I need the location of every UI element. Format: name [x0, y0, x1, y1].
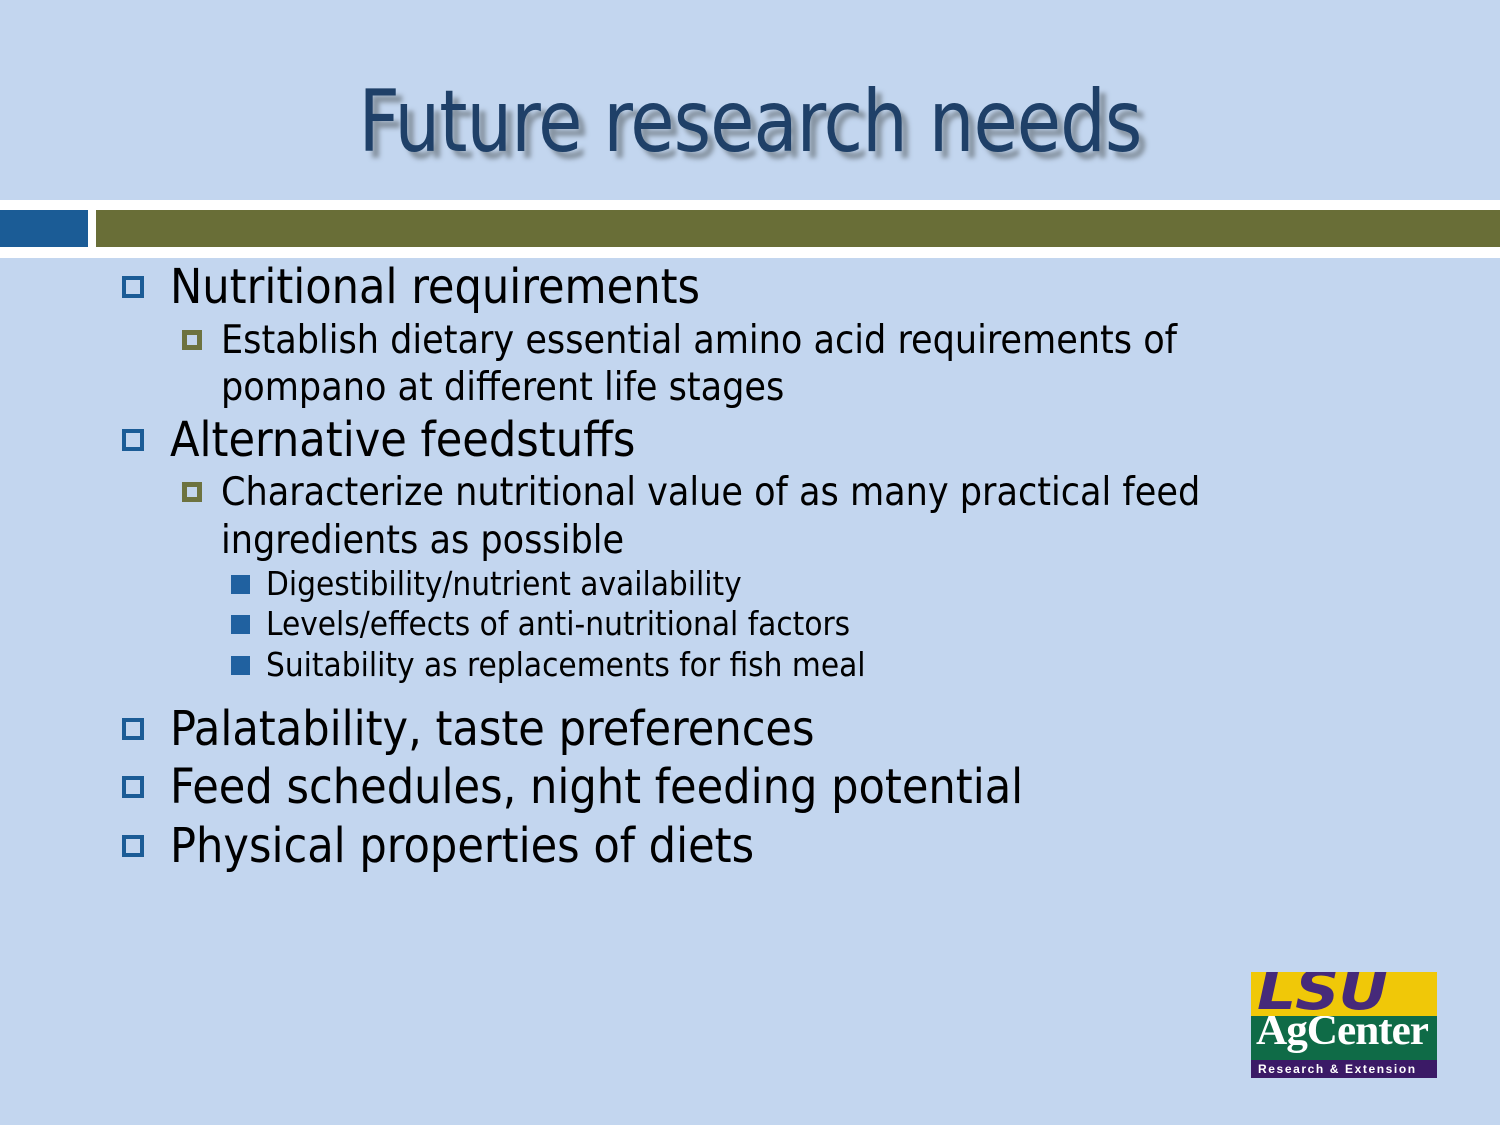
- list-item: Digestibility/nutrient availability: [0, 564, 1500, 605]
- header-divider-band: [0, 200, 1500, 258]
- list-item: Nutritional requirements: [0, 258, 1500, 317]
- filled-blue-square-bullet-icon: [231, 615, 250, 634]
- list-item: Levels/effects of anti-nutritional facto…: [0, 604, 1500, 645]
- list-item-label: Nutritional requirements: [170, 258, 1420, 317]
- list-item-label: Characterize nutritional value of as man…: [221, 469, 1321, 563]
- lsu-agcenter-logo: LSU AgCenter Research & Extension: [1251, 972, 1437, 1078]
- hollow-blue-square-bullet-icon: [122, 718, 144, 740]
- list-item-label: Palatability, taste preferences: [170, 700, 1420, 759]
- presentation-slide: Future research needs Nutritional requir…: [0, 0, 1500, 1125]
- filled-blue-square-bullet-icon: [231, 656, 250, 675]
- hollow-blue-square-bullet-icon: [122, 429, 144, 451]
- hollow-blue-square-bullet-icon: [122, 276, 144, 298]
- hollow-olive-square-bullet-icon: [182, 330, 202, 350]
- filled-blue-square-bullet-icon: [231, 575, 250, 594]
- logo-agcenter-text: AgCenter: [1256, 1016, 1428, 1052]
- list-item-label: Physical properties of diets: [170, 817, 1420, 876]
- hollow-blue-square-bullet-icon: [122, 776, 144, 798]
- list-item: Feed schedules, night feeding potential: [0, 758, 1500, 817]
- logo-lsu-band: LSU: [1251, 972, 1437, 1016]
- bullet-list: Nutritional requirements Establish dieta…: [0, 258, 1500, 958]
- logo-agcenter-band: AgCenter: [1251, 1016, 1437, 1060]
- list-item-label: Feed schedules, night feeding potential: [170, 758, 1420, 817]
- list-item-label: Digestibility/nutrient availability: [266, 564, 1266, 605]
- logo-lsu-text: LSU: [1257, 972, 1387, 1016]
- list-item: Physical properties of diets: [0, 817, 1500, 876]
- list-item: Suitability as replacements for fish mea…: [0, 645, 1500, 686]
- divider-accent-block: [0, 210, 88, 247]
- list-item-label: Levels/effects of anti-nutritional facto…: [266, 604, 1266, 645]
- list-item: Palatability, taste preferences: [0, 700, 1500, 759]
- list-item-label: Suitability as replacements for fish mea…: [266, 645, 1266, 686]
- hollow-blue-square-bullet-icon: [122, 835, 144, 857]
- slide-title-area: Future research needs: [0, 60, 1500, 185]
- page-title: Future research needs: [358, 77, 1141, 167]
- list-item: Alternative feedstuffs: [0, 411, 1500, 470]
- hollow-olive-square-bullet-icon: [182, 482, 202, 502]
- logo-tagline-band: Research & Extension: [1251, 1060, 1437, 1078]
- divider-rule-bar: [96, 210, 1500, 247]
- list-item-label: Establish dietary essential amino acid r…: [221, 317, 1321, 411]
- list-item-label: Alternative feedstuffs: [170, 411, 1420, 470]
- list-item: Characterize nutritional value of as man…: [0, 469, 1500, 563]
- logo-tagline-text: Research & Extension: [1258, 1061, 1417, 1077]
- list-item: Establish dietary essential amino acid r…: [0, 317, 1500, 411]
